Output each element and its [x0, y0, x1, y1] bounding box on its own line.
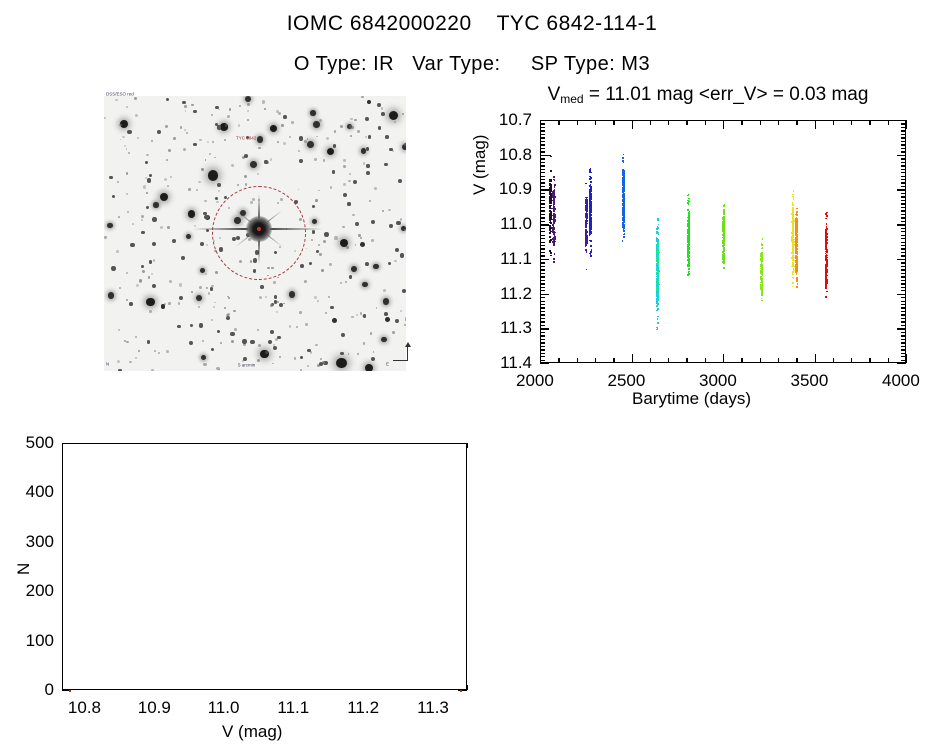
- data-point: [762, 238, 764, 240]
- axis-tick: [901, 321, 906, 322]
- lightcurve-y-axis-label: V (mag): [470, 135, 490, 195]
- data-point: [549, 242, 551, 244]
- data-point: [623, 205, 625, 207]
- data-point: [687, 257, 689, 259]
- data-point: [723, 257, 725, 259]
- data-point: [622, 207, 624, 209]
- axis-tick: [540, 210, 545, 211]
- data-point: [760, 276, 762, 278]
- axis-tick-label: 10.9: [138, 698, 171, 718]
- data-point: [826, 296, 828, 298]
- axis-tick: [897, 155, 906, 156]
- data-point: [793, 199, 795, 201]
- data-point: [589, 231, 591, 233]
- axis-tick: [815, 354, 816, 363]
- data-point: [591, 208, 593, 210]
- data-point: [553, 231, 555, 233]
- data-point: [796, 208, 798, 210]
- data-point: [795, 260, 797, 262]
- axis-tick: [901, 193, 906, 194]
- data-point: [797, 283, 799, 285]
- data-point: [553, 198, 555, 200]
- axis-tick: [540, 325, 545, 326]
- axis-tick: [540, 335, 545, 336]
- axis-tick: [540, 221, 545, 222]
- axis-tick: [540, 217, 545, 218]
- data-point: [657, 226, 659, 228]
- data-point: [657, 264, 659, 266]
- data-point: [795, 265, 797, 267]
- axis-tick: [705, 120, 706, 125]
- axis-tick: [577, 120, 578, 125]
- axis-tick: [741, 358, 742, 363]
- data-point: [723, 213, 725, 215]
- data-point: [761, 291, 763, 293]
- axis-tick: [668, 120, 669, 125]
- data-point: [796, 219, 798, 221]
- data-point: [793, 251, 795, 253]
- data-point: [585, 214, 587, 216]
- data-point: [688, 212, 690, 214]
- data-point: [553, 210, 555, 212]
- axis-tick: [540, 328, 549, 329]
- axis-tick: [897, 294, 906, 295]
- data-point: [796, 253, 798, 255]
- axis-tick: [901, 179, 906, 180]
- axis-tick: [901, 231, 906, 232]
- data-point: [796, 280, 798, 282]
- data-point: [656, 283, 658, 285]
- axis-tick: [897, 328, 906, 329]
- axis-tick: [901, 301, 906, 302]
- axis-tick: [888, 120, 889, 125]
- data-point: [549, 207, 551, 209]
- data-point: [553, 179, 555, 181]
- data-point: [826, 236, 828, 238]
- data-point: [792, 282, 794, 284]
- axis-tick: [705, 358, 706, 363]
- data-point: [622, 224, 624, 226]
- data-point: [688, 259, 690, 261]
- data-point: [623, 154, 625, 156]
- data-point: [761, 248, 763, 250]
- axis-tick: [540, 307, 545, 308]
- data-point: [795, 270, 797, 272]
- axis-tick: [540, 228, 545, 229]
- axis-tick-label: 3000: [699, 371, 737, 391]
- axis-tick: [901, 176, 906, 177]
- axis-tick: [540, 231, 545, 232]
- data-point: [590, 255, 592, 257]
- data-point: [554, 253, 556, 255]
- data-point: [589, 229, 591, 231]
- axis-tick-label: 2500: [608, 371, 646, 391]
- axis-tick: [901, 137, 906, 138]
- data-point: [657, 239, 659, 241]
- axis-tick: [540, 318, 545, 319]
- data-point: [657, 294, 659, 296]
- axis-tick: [901, 203, 906, 204]
- axis-tick: [778, 358, 779, 363]
- data-point: [657, 322, 659, 324]
- data-point: [762, 282, 764, 284]
- axis-tick: [540, 134, 545, 135]
- data-point: [723, 211, 725, 213]
- data-point: [792, 262, 794, 264]
- data-point: [761, 243, 763, 245]
- data-point: [761, 300, 763, 302]
- axis-tick: [901, 141, 906, 142]
- data-point: [688, 198, 690, 200]
- data-point: [723, 228, 725, 230]
- data-point: [549, 203, 551, 205]
- data-point: [761, 278, 763, 280]
- axis-tick: [901, 346, 906, 347]
- data-point: [762, 259, 764, 261]
- data-point: [550, 205, 552, 207]
- data-point: [762, 255, 764, 257]
- axis-tick: [901, 130, 906, 131]
- axis-tick: [901, 134, 906, 135]
- data-point: [657, 278, 659, 280]
- axis-tick-label: 11.1: [277, 698, 309, 718]
- axis-tick: [901, 266, 906, 267]
- axis-tick-label: 11.0: [486, 214, 532, 234]
- data-point: [825, 234, 827, 236]
- data-point: [826, 226, 828, 228]
- axis-tick: [796, 358, 797, 363]
- axis-tick: [540, 294, 549, 295]
- axis-tick: [901, 214, 906, 215]
- axis-tick: [540, 290, 545, 291]
- data-point: [795, 269, 797, 271]
- data-point: [796, 213, 798, 215]
- data-point: [793, 268, 795, 270]
- axis-tick: [869, 120, 870, 125]
- data-point: [623, 176, 625, 178]
- lightcurve-x-axis-label: Barytime (days): [632, 389, 751, 409]
- data-point: [723, 233, 725, 235]
- data-point: [550, 252, 552, 254]
- axis-tick: [540, 158, 545, 159]
- data-point: [549, 236, 551, 238]
- axis-tick: [901, 144, 906, 145]
- axis-tick: [901, 280, 906, 281]
- axis-tick: [901, 158, 906, 159]
- data-point: [825, 275, 827, 277]
- data-point: [793, 218, 795, 220]
- data-point: [793, 190, 795, 192]
- data-point: [687, 274, 689, 276]
- axis-tick: [901, 349, 906, 350]
- data-point: [688, 251, 690, 253]
- data-point: [590, 181, 592, 183]
- data-point: [792, 222, 794, 224]
- data-point: [553, 227, 555, 229]
- data-point: [554, 208, 556, 210]
- data-point: [622, 157, 624, 159]
- data-point: [657, 218, 659, 220]
- data-point: [586, 197, 588, 199]
- data-point: [723, 241, 725, 243]
- axis-tick: [540, 262, 545, 263]
- data-point: [825, 248, 827, 250]
- data-point: [585, 183, 587, 185]
- data-point: [689, 231, 691, 233]
- data-point: [550, 170, 552, 172]
- histogram-x-axis-label: V (mag): [222, 722, 282, 742]
- data-point: [553, 203, 555, 205]
- axis-tick: [668, 358, 669, 363]
- data-point: [586, 223, 588, 225]
- data-point: [585, 220, 587, 222]
- axis-tick: [901, 307, 906, 308]
- data-point: [826, 291, 828, 293]
- data-point: [622, 182, 624, 184]
- data-point: [623, 228, 625, 230]
- data-point: [722, 261, 724, 263]
- data-point: [688, 271, 690, 273]
- axis-tick: [815, 120, 816, 129]
- data-point: [553, 222, 555, 224]
- data-point: [723, 224, 725, 226]
- data-point: [623, 210, 625, 212]
- data-point: [553, 240, 555, 242]
- data-point: [623, 190, 625, 192]
- axis-tick-label: 11.1: [486, 249, 532, 269]
- data-point: [826, 264, 828, 266]
- data-point: [549, 232, 551, 234]
- data-point: [657, 245, 659, 247]
- data-point: [657, 318, 659, 320]
- data-point: [792, 249, 794, 251]
- data-point: [825, 253, 827, 255]
- data-point: [585, 201, 587, 203]
- data-point: [550, 198, 552, 200]
- data-point: [657, 273, 659, 275]
- data-point: [687, 223, 689, 225]
- data-point: [549, 210, 551, 212]
- axis-tick: [901, 252, 906, 253]
- data-point: [656, 252, 658, 254]
- axis-tick: [540, 297, 545, 298]
- data-point: [586, 269, 588, 271]
- data-point: [554, 196, 556, 198]
- axis-tick: [540, 346, 545, 347]
- axis-tick: [540, 266, 545, 267]
- axis-tick: [901, 332, 906, 333]
- data-point: [586, 243, 588, 245]
- data-point: [622, 211, 624, 213]
- axis-tick: [540, 127, 545, 128]
- data-point: [687, 195, 689, 197]
- data-point: [826, 223, 828, 225]
- data-point: [550, 156, 552, 158]
- axis-tick: [595, 358, 596, 363]
- data-point: [723, 247, 725, 249]
- data-point: [586, 235, 588, 237]
- axis-tick: [901, 273, 906, 274]
- data-point: [589, 176, 591, 178]
- data-point: [689, 248, 691, 250]
- data-point: [687, 209, 689, 211]
- axis-tick: [540, 301, 545, 302]
- axis-tick-label: 11.3: [417, 698, 449, 718]
- data-point: [586, 240, 588, 242]
- data-point: [554, 234, 556, 236]
- axis-tick: [901, 311, 906, 312]
- axis-tick: [901, 127, 906, 128]
- axis-tick: [901, 245, 906, 246]
- data-point: [687, 240, 689, 242]
- data-point: [623, 198, 625, 200]
- data-point: [553, 261, 555, 263]
- data-point: [724, 219, 726, 221]
- axis-tick: [901, 238, 906, 239]
- data-point: [658, 287, 660, 289]
- axis-tick: [540, 339, 545, 340]
- axis-tick: [723, 354, 724, 363]
- axis-tick-label: 11.3: [486, 318, 532, 338]
- data-point: [623, 229, 625, 231]
- data-point: [825, 283, 827, 285]
- data-point: [549, 222, 551, 224]
- data-point: [796, 277, 798, 279]
- axis-tick: [540, 314, 545, 315]
- axis-tick: [540, 238, 545, 239]
- axis-tick: [901, 148, 906, 149]
- data-point: [550, 194, 552, 196]
- data-point: [590, 222, 592, 224]
- histogram-plot-frame: [62, 443, 467, 690]
- data-point: [792, 243, 794, 245]
- axis-tick: [540, 321, 545, 322]
- axis-tick: [540, 332, 545, 333]
- axis-tick: [901, 342, 906, 343]
- axis-tick-label: 0: [10, 680, 54, 700]
- axis-tick: [897, 363, 906, 364]
- data-point: [550, 255, 552, 257]
- data-point: [623, 216, 625, 218]
- axis-tick: [901, 297, 906, 298]
- axis-tick-label: 11.2: [486, 284, 532, 304]
- data-point: [826, 273, 828, 275]
- data-point: [797, 231, 799, 233]
- data-point: [796, 238, 798, 240]
- axis-tick: [796, 120, 797, 125]
- data-point: [792, 196, 794, 198]
- data-point: [791, 232, 793, 234]
- data-point: [793, 208, 795, 210]
- data-point: [687, 265, 689, 267]
- data-point: [586, 245, 588, 247]
- data-point: [550, 218, 552, 220]
- data-point: [722, 235, 724, 237]
- axis-tick: [540, 280, 545, 281]
- axis-tick: [897, 120, 906, 121]
- axis-tick: [540, 189, 549, 190]
- data-point: [793, 274, 795, 276]
- axis-tick: [723, 120, 724, 129]
- data-point: [795, 222, 797, 224]
- data-point: [590, 226, 592, 228]
- data-point: [795, 250, 797, 252]
- data-point: [590, 234, 592, 236]
- axis-tick: [686, 358, 687, 363]
- data-point: [826, 258, 828, 260]
- data-point: [826, 286, 828, 288]
- axis-tick: [540, 224, 549, 225]
- axis-tick: [540, 304, 545, 305]
- data-point: [687, 217, 689, 219]
- data-point: [688, 245, 690, 247]
- data-point: [657, 316, 659, 318]
- axis-tick: [540, 287, 545, 288]
- data-point: [688, 201, 690, 203]
- axis-tick: [901, 207, 906, 208]
- axis-tick: [558, 120, 559, 125]
- data-point: [792, 286, 794, 288]
- data-point: [586, 237, 588, 239]
- axis-tick: [901, 210, 906, 211]
- axis-tick: [901, 255, 906, 256]
- data-point: [657, 310, 659, 312]
- axis-tick-label: 100: [10, 631, 54, 651]
- axis-tick: [540, 200, 545, 201]
- data-point: [591, 225, 593, 227]
- data-point: [761, 292, 763, 294]
- data-point: [591, 186, 593, 188]
- axis-tick: [901, 186, 906, 187]
- data-point: [724, 204, 726, 206]
- axis-tick: [901, 304, 906, 305]
- data-point: [554, 189, 556, 191]
- data-point: [826, 215, 828, 217]
- axis-tick-label: 2000: [516, 371, 554, 391]
- axis-tick: [540, 353, 545, 354]
- axis-tick: [540, 245, 545, 246]
- axis-tick: [540, 252, 545, 253]
- data-point: [554, 186, 556, 188]
- axis-tick-label: 11.0: [208, 698, 240, 718]
- axis-tick: [540, 182, 545, 183]
- data-point: [553, 258, 555, 260]
- axis-tick: [901, 165, 906, 166]
- data-point: [622, 240, 624, 242]
- data-point: [586, 218, 588, 220]
- axis-tick: [901, 196, 906, 197]
- axis-tick: [760, 358, 761, 363]
- axis-tick: [906, 120, 907, 129]
- axis-tick: [833, 120, 834, 125]
- axis-tick: [540, 342, 545, 343]
- data-point: [761, 285, 763, 287]
- data-point: [657, 232, 659, 234]
- data-point: [761, 288, 763, 290]
- axis-tick: [577, 358, 578, 363]
- axis-tick: [540, 196, 545, 197]
- data-point: [687, 236, 689, 238]
- axis-tick: [540, 169, 545, 170]
- data-point: [591, 212, 593, 214]
- data-point: [656, 302, 658, 304]
- data-point: [658, 266, 660, 268]
- histogram-y-axis-label: N: [14, 563, 34, 575]
- data-point: [792, 212, 794, 214]
- data-point: [826, 242, 828, 244]
- data-point: [589, 202, 591, 204]
- axis-tick: [901, 217, 906, 218]
